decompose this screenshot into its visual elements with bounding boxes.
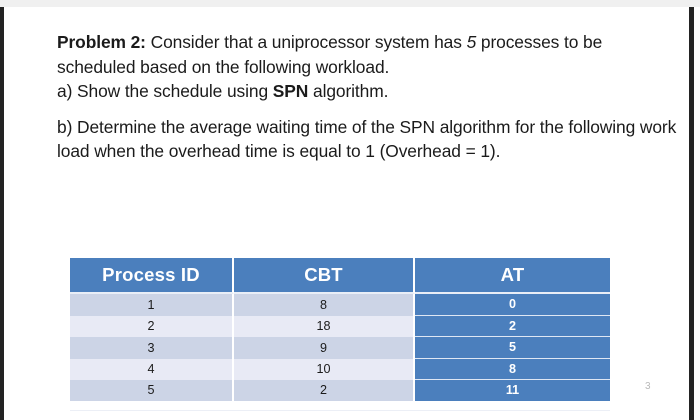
column-header-at: AT bbox=[415, 258, 610, 294]
table-row: 3 9 5 bbox=[70, 337, 610, 359]
cell-at: 11 bbox=[415, 380, 610, 401]
column-header-process-id: Process ID bbox=[70, 258, 234, 294]
table-header-row: Process ID CBT AT bbox=[70, 258, 610, 294]
table-baseline-rule bbox=[70, 410, 610, 411]
question-a-suffix: algorithm. bbox=[308, 81, 388, 101]
question-a-paragraph: a) Show the schedule using SPN algorithm… bbox=[57, 79, 677, 104]
column-header-cbt: CBT bbox=[234, 258, 415, 294]
table-row: 4 10 8 bbox=[70, 359, 610, 381]
problem-process-count: 5 bbox=[467, 32, 477, 52]
cell-cbt: 2 bbox=[234, 380, 415, 401]
cell-cbt: 18 bbox=[234, 316, 415, 338]
cell-cbt: 8 bbox=[234, 294, 415, 316]
slide-canvas: Problem 2: Consider that a uniprocessor … bbox=[0, 0, 700, 420]
table-row: 2 18 2 bbox=[70, 316, 610, 338]
cell-process-id: 2 bbox=[70, 316, 234, 338]
cell-cbt: 9 bbox=[234, 337, 415, 359]
question-a-prefix: a) Show the schedule using bbox=[57, 81, 273, 101]
cell-at: 5 bbox=[415, 337, 610, 359]
problem-intro-paragraph: Problem 2: Consider that a uniprocessor … bbox=[57, 30, 677, 79]
frame-border-left bbox=[0, 7, 4, 420]
frame-margin-right bbox=[694, 7, 700, 420]
cell-cbt: 10 bbox=[234, 359, 415, 381]
problem-statement: Problem 2: Consider that a uniprocessor … bbox=[57, 30, 677, 164]
page-number: 3 bbox=[645, 381, 651, 392]
top-strip bbox=[0, 0, 700, 7]
workload-table: Process ID CBT AT 1 8 0 2 18 2 3 9 5 4 bbox=[70, 258, 610, 401]
cell-at: 2 bbox=[415, 316, 610, 338]
cell-process-id: 4 bbox=[70, 359, 234, 381]
question-a-algorithm: SPN bbox=[273, 81, 308, 101]
table-row: 1 8 0 bbox=[70, 294, 610, 316]
problem-intro-text-1: Consider that a uniprocessor system has bbox=[146, 32, 467, 52]
table-row: 5 2 11 bbox=[70, 380, 610, 401]
cell-at: 0 bbox=[415, 294, 610, 316]
question-b-paragraph: b) Determine the average waiting time of… bbox=[57, 115, 677, 164]
cell-at: 8 bbox=[415, 359, 610, 381]
cell-process-id: 1 bbox=[70, 294, 234, 316]
cell-process-id: 3 bbox=[70, 337, 234, 359]
problem-label: Problem 2: bbox=[57, 32, 146, 52]
cell-process-id: 5 bbox=[70, 380, 234, 401]
